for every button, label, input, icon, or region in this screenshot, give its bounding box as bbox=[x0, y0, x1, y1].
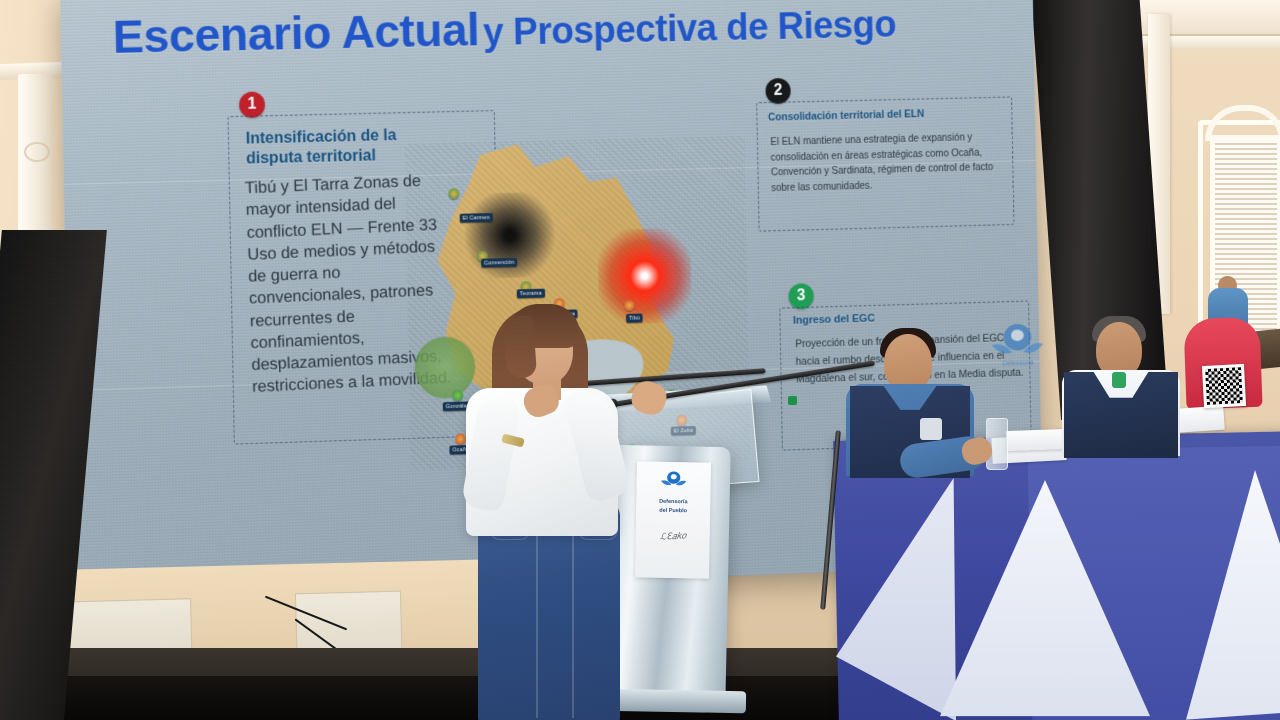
slide-badge-2: 2 bbox=[765, 78, 790, 104]
slide-title-part1: Escenario Actual bbox=[112, 3, 479, 63]
map-label: El Carmen bbox=[460, 213, 493, 223]
speaker-hair-fringe bbox=[503, 315, 537, 379]
podium-institution-line1: Defensoría bbox=[659, 499, 688, 506]
slide-badge-1: 1 bbox=[239, 92, 265, 118]
jeans-seam bbox=[572, 508, 574, 718]
svg-text:Defensoría: Defensoría bbox=[1002, 360, 1034, 368]
jeans-seam bbox=[536, 508, 538, 718]
defensoria-watermark-icon: Defensoría bbox=[987, 316, 1049, 378]
podium-base bbox=[600, 689, 746, 714]
mic-clip bbox=[788, 396, 797, 405]
photo-scene: Escenario Actual y Prospectiva de Riesgo… bbox=[0, 0, 1280, 720]
map-label: Teorama bbox=[517, 289, 545, 299]
map-label: Tibú bbox=[626, 313, 643, 322]
podium-plaque: Defensoría del Pueblo ℒℇ𝑎𝑘𝑜 bbox=[635, 461, 711, 578]
slide-badge-3: 3 bbox=[788, 283, 813, 309]
podium-signature: ℒℇ𝑎𝑘𝑜 bbox=[659, 530, 686, 542]
podium-institution-line2: del Pueblo bbox=[659, 508, 687, 515]
slide-title: Escenario Actual y Prospectiva de Riesgo bbox=[112, 0, 1016, 60]
table-papers bbox=[1006, 429, 1067, 451]
map-hotspot-red bbox=[597, 228, 692, 325]
panelist-2-lanyard bbox=[1112, 372, 1126, 388]
panelist-1-logo-patch bbox=[920, 418, 942, 440]
slide-block-2-body: El ELN mantiene una estrategia de expans… bbox=[770, 130, 1006, 196]
slide-title-part2: y Prospectiva de Riesgo bbox=[483, 4, 897, 54]
qr-code-placard bbox=[1202, 364, 1246, 408]
defensoria-logo-icon bbox=[658, 468, 688, 497]
map-label: Convención bbox=[481, 258, 517, 268]
